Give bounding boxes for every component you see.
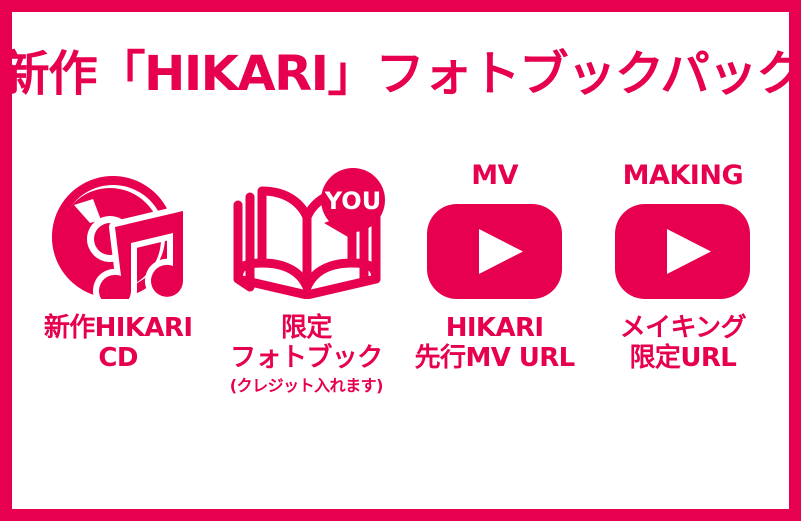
- cd-icon-slot: [38, 164, 198, 299]
- making-caption-line1: メイキング: [620, 313, 746, 343]
- item-mv-url[interactable]: MV HIKARI 先行MV URL: [401, 164, 589, 374]
- item-photobook[interactable]: YOU 限定 フォトブック (クレジット入れます): [212, 164, 400, 396]
- photobook-caption-line2: フォトブック: [230, 343, 382, 373]
- youtube-play-icon[interactable]: [615, 164, 750, 299]
- book-icon-slot: YOU: [224, 164, 389, 299]
- page-title-text: 新作「HIKARI」フォトブックパック: [0, 50, 801, 98]
- mv-caption: HIKARI 先行MV URL: [415, 313, 575, 374]
- item-list: 新作HIKARI CD: [24, 164, 777, 396]
- cd-music-note-icon: [38, 174, 198, 299]
- open-book-you-bubble-icon: YOU: [224, 167, 389, 299]
- cd-caption-line1: 新作HIKARI: [44, 313, 193, 343]
- photobook-pack-poster: 新作「HIKARI」フォトブックパック: [0, 0, 801, 521]
- you-bubble-label: YOU: [324, 187, 381, 215]
- item-making-url[interactable]: MAKING メイキング 限定URL: [589, 164, 777, 374]
- photobook-caption-line1: 限定: [281, 313, 332, 343]
- photobook-caption: 限定 フォトブック (クレジット入れます): [230, 313, 383, 396]
- photobook-caption-note: (クレジット入れます): [230, 377, 383, 396]
- cd-caption-line2: CD: [98, 343, 137, 373]
- mv-icon-slot: MV: [427, 164, 562, 299]
- page-title: 新作「HIKARI」フォトブックパック: [12, 50, 789, 98]
- mv-caption-line1: HIKARI: [446, 313, 544, 343]
- making-caption-line2: 限定URL: [630, 343, 737, 373]
- youtube-play-icon[interactable]: [427, 164, 562, 299]
- making-icon-slot: MAKING: [615, 164, 750, 299]
- item-cd[interactable]: 新作HIKARI CD: [24, 164, 212, 374]
- making-caption: メイキング 限定URL: [620, 313, 746, 374]
- mv-caption-line2: 先行MV URL: [415, 343, 575, 373]
- cd-caption: 新作HIKARI CD: [44, 313, 193, 374]
